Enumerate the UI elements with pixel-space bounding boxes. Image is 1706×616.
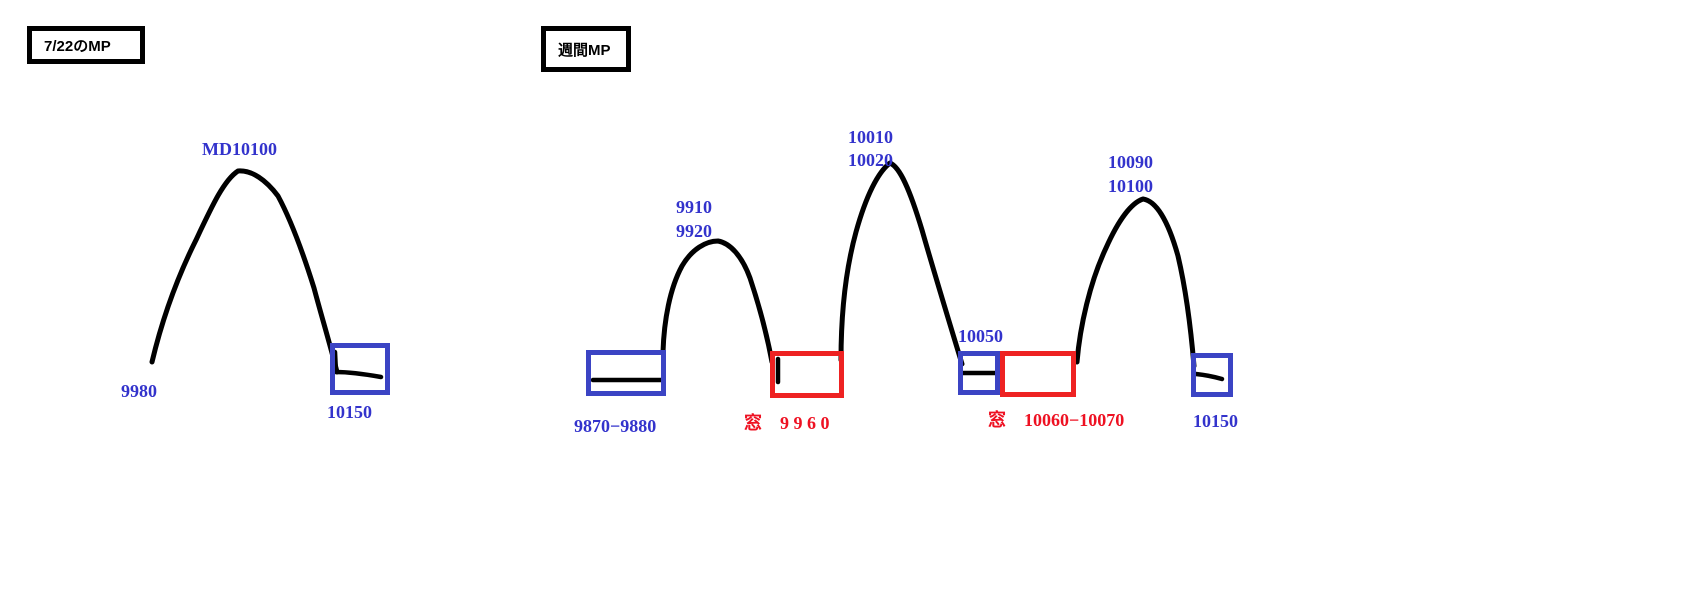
label-weekly-peak3-upper: 10090 <box>1108 152 1153 173</box>
label-weekly-zone-10050: 10050 <box>958 326 1003 347</box>
label-weekly-peak1-upper: 9910 <box>676 197 712 218</box>
zone-box-daily-10150 <box>330 343 390 395</box>
curve-weekly-peak2 <box>841 163 962 364</box>
label-daily-start: 9980 <box>121 381 157 402</box>
zone-box-weekly-10150 <box>1191 353 1233 397</box>
label-daily-zone: 10150 <box>327 402 372 423</box>
curve-weekly-peak3 <box>1077 199 1194 366</box>
label-weekly-peak1-lower: 9920 <box>676 221 712 242</box>
label-weekly-peak2-lower: 10020 <box>848 150 893 171</box>
label-weekly-peak3-lower: 10100 <box>1108 176 1153 197</box>
label-weekly-zone-right-blue: 10150 <box>1193 411 1238 432</box>
zone-box-weekly-9870-9880 <box>586 350 666 396</box>
whiteboard-canvas: 7/22のMP 週間MP MD10100 9980 10150 9910 992… <box>0 0 1706 616</box>
zone-box-weekly-10050 <box>958 351 1000 395</box>
label-weekly-zone-left-blue: 9870−9880 <box>574 416 656 437</box>
curve-daily-main <box>152 171 337 372</box>
zone-box-weekly-10060-10070 <box>1000 351 1076 397</box>
zone-box-weekly-9960 <box>770 351 844 398</box>
label-daily-peak: MD10100 <box>202 139 277 160</box>
curve-layer <box>0 0 1706 616</box>
label-weekly-zone-red-9960: 窓 9 9 6 0 <box>744 409 830 435</box>
label-weekly-zone-red-10060-10070: 窓 10060−10070 <box>988 406 1124 432</box>
curve-weekly-peak1 <box>663 241 772 362</box>
label-weekly-peak2-upper: 10010 <box>848 127 893 148</box>
